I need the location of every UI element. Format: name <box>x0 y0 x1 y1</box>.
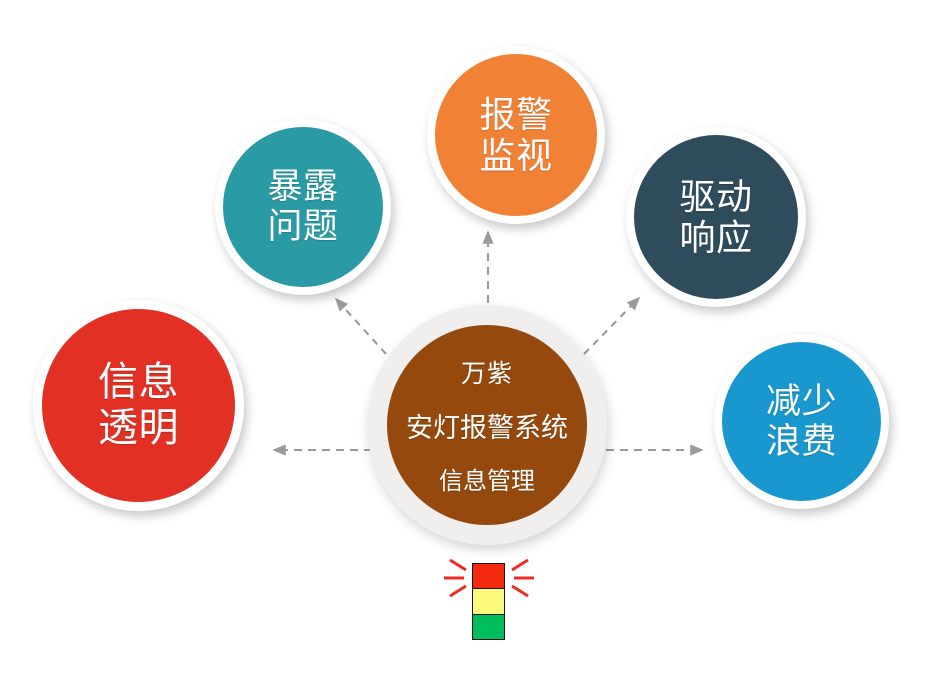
label-line-1: 暴露 <box>267 167 338 207</box>
label-line-1: 信息 <box>98 360 179 406</box>
center-hub-disc: 万紫 安灯报警系统 信息管理 <box>387 325 587 525</box>
andon-lamp-stack <box>472 563 505 640</box>
node-drive-response-disc: 驱动 响应 <box>634 135 798 299</box>
andon-light-tower <box>440 548 540 648</box>
node-information-transparency-disc: 信息 透明 <box>42 309 235 502</box>
node-alarm-monitoring[interactable]: 报警 监视 <box>427 46 605 224</box>
node-reduce-waste[interactable]: 减少 浪费 <box>714 334 889 509</box>
diagram-canvas: 报警 监视 暴露 问题 驱动 响应 信息 透明 <box>0 0 939 680</box>
label-line-2: 透明 <box>98 406 179 452</box>
label-line-2: 监视 <box>479 135 552 176</box>
node-reduce-waste-disc: 减少 浪费 <box>722 342 881 501</box>
label-line-2: 响应 <box>679 217 752 258</box>
center-hub[interactable]: 万紫 安灯报警系统 信息管理 <box>367 305 607 545</box>
connector-to-expose-problems <box>336 299 386 354</box>
label-line-1: 减少 <box>766 382 837 422</box>
label-line-2: 问题 <box>267 207 338 247</box>
connector-to-drive-response <box>584 298 639 354</box>
center-hub-line-3: 信息管理 <box>439 461 535 496</box>
node-expose-problems[interactable]: 暴露 问题 <box>215 119 391 295</box>
node-reduce-waste-label: 减少 浪费 <box>766 382 837 462</box>
node-alarm-monitoring-disc: 报警 监视 <box>435 54 597 216</box>
node-expose-problems-disc: 暴露 问题 <box>223 127 383 287</box>
node-alarm-monitoring-label: 报警 监视 <box>479 94 552 176</box>
label-line-1: 驱动 <box>679 176 752 217</box>
center-hub-line-2: 安灯报警系统 <box>406 406 568 445</box>
node-expose-problems-label: 暴露 问题 <box>267 167 338 247</box>
node-drive-response[interactable]: 驱动 响应 <box>626 127 806 307</box>
green-lamp <box>472 615 505 640</box>
node-information-transparency[interactable]: 信息 透明 <box>33 300 244 511</box>
yellow-lamp <box>472 589 505 614</box>
label-line-1: 报警 <box>479 94 552 135</box>
center-hub-line-1: 万紫 <box>461 354 513 390</box>
red-lamp <box>472 563 505 589</box>
label-line-2: 浪费 <box>766 422 837 462</box>
node-drive-response-label: 驱动 响应 <box>679 176 752 258</box>
node-information-transparency-label: 信息 透明 <box>98 360 179 451</box>
